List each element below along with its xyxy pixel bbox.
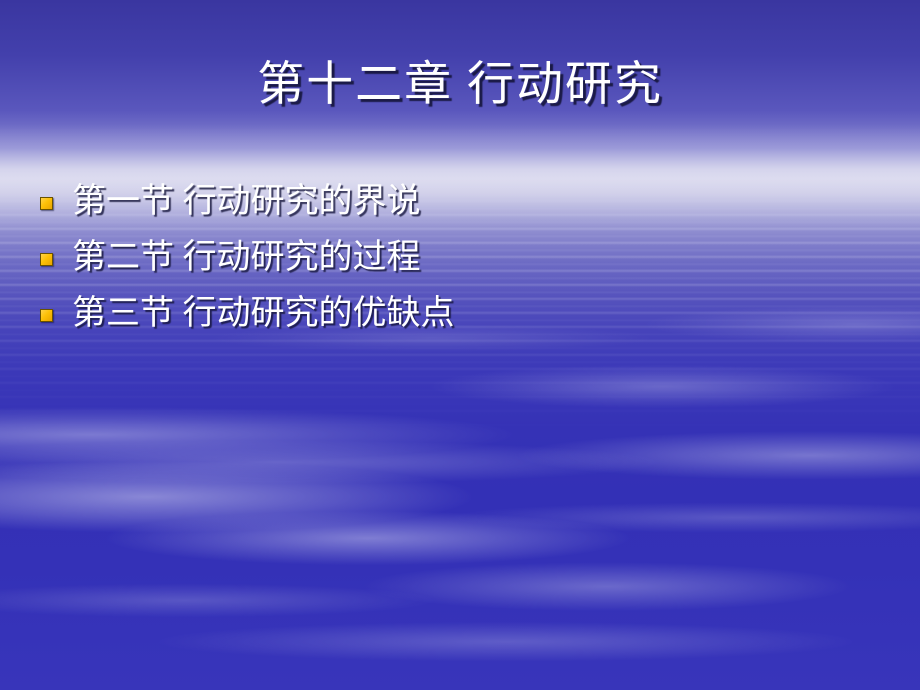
square-bullet-icon: [40, 253, 53, 266]
list-item[interactable]: 第一节 行动研究的界说: [40, 182, 880, 238]
list-item-label: 第一节 行动研究的界说: [72, 182, 421, 222]
list-item-label: 第三节 行动研究的优缺点: [72, 294, 455, 334]
square-bullet-icon: [40, 309, 53, 322]
list-item-label: 第二节 行动研究的过程: [72, 238, 421, 278]
list-item[interactable]: 第三节 行动研究的优缺点: [40, 294, 880, 350]
slide-title: 第十二章 行动研究: [0, 62, 920, 109]
list-item[interactable]: 第二节 行动研究的过程: [40, 238, 880, 294]
square-bullet-icon: [40, 197, 53, 210]
slide-canvas: 第十二章 行动研究 第一节 行动研究的界说 第二节 行动研究的过程 第三节 行动…: [0, 0, 920, 690]
slide-bullet-list: 第一节 行动研究的界说 第二节 行动研究的过程 第三节 行动研究的优缺点: [40, 182, 880, 350]
